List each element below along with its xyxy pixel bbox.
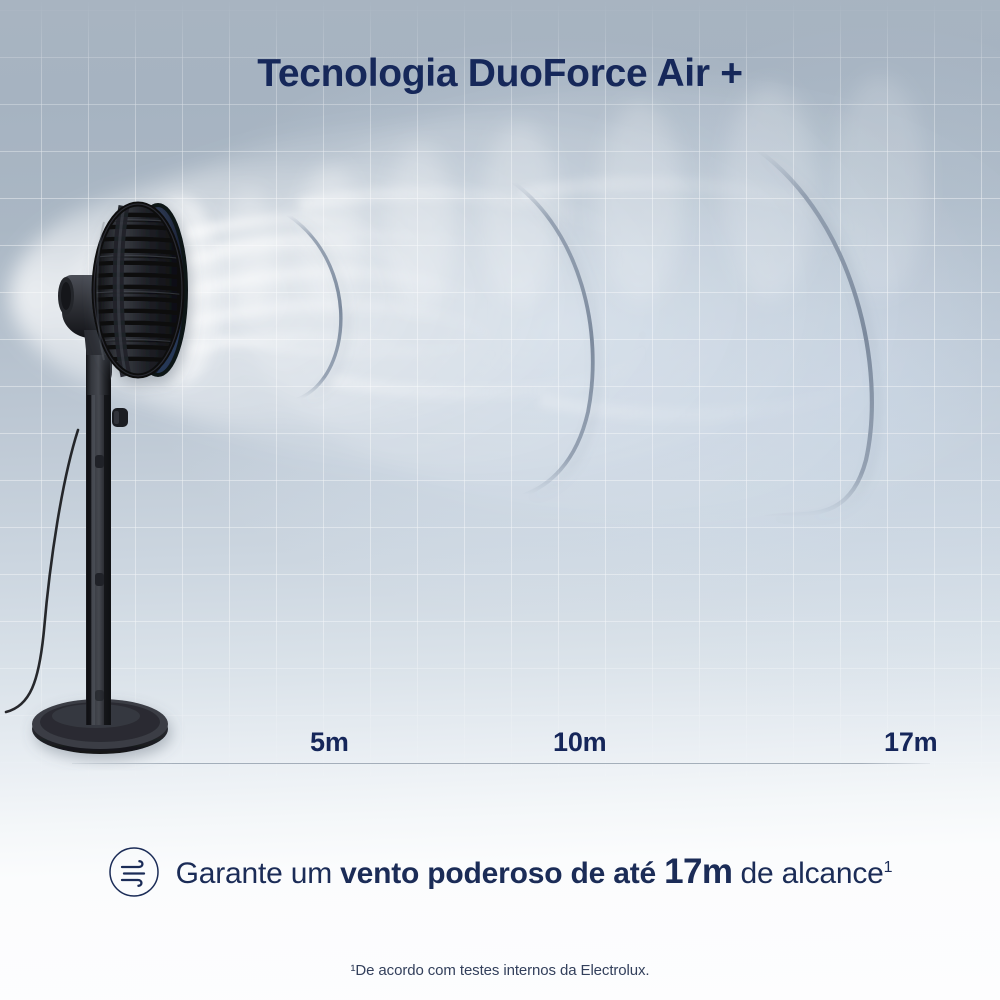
pedestal-fan <box>0 0 400 800</box>
pole-adjust-mark-lower <box>95 573 104 586</box>
distance-axis-line <box>72 763 930 764</box>
page-title: Tecnologia DuoForce Air + <box>0 52 1000 96</box>
tilt-knob <box>112 408 128 427</box>
tagline-footnote-marker: 1 <box>884 859 893 876</box>
tagline: Garante um vento poderoso de até 17m de … <box>0 846 1000 898</box>
tagline-part1: Garante um <box>176 857 341 890</box>
wind-icon <box>108 846 160 898</box>
footnote: ¹De acordo com testes internos da Electr… <box>0 962 1000 979</box>
tagline-part2: de alcance <box>732 857 883 890</box>
distance-label-5m: 5m <box>310 727 349 758</box>
distance-label-10m: 10m <box>553 727 606 758</box>
power-cord <box>6 430 78 712</box>
infographic-canvas: Tecnologia DuoForce Air + 5m 10m 17m Gar… <box>0 0 1000 1000</box>
pole-adjust-mark-upper <box>95 455 104 468</box>
pole-adjust-mark-base <box>95 690 104 701</box>
tagline-text: Garante um vento poderoso de até 17m de … <box>176 852 893 892</box>
tagline-highlight: vento poderoso de até <box>340 857 664 890</box>
distance-label-17m: 17m <box>884 727 937 758</box>
tagline-value: 17m <box>664 852 732 891</box>
